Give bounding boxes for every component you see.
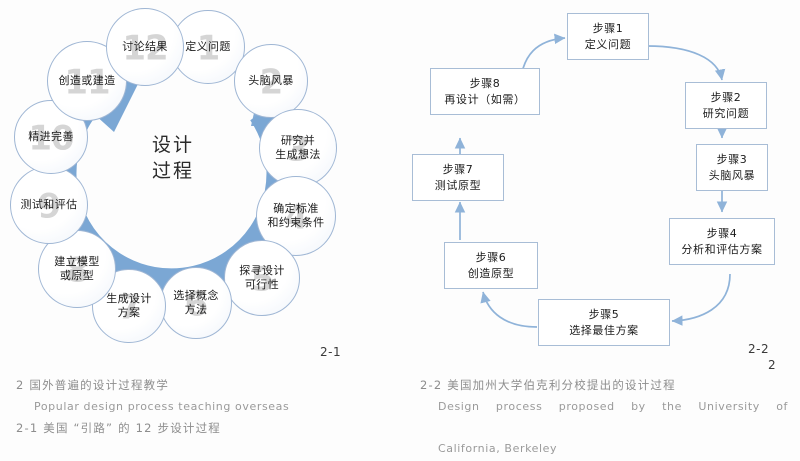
flow-step-6-desc: 创造原型 xyxy=(468,266,514,282)
flow-step-6-title: 步骤6 xyxy=(476,250,507,266)
flow-step-8-desc: 再设计（如需） xyxy=(444,92,525,108)
wheel-step-10-label: 精进完善 xyxy=(26,130,76,144)
caption-right-figure-en-line2: California, Berkeley xyxy=(420,439,790,460)
wheel-center-title-line2: 过程 xyxy=(113,159,233,185)
wheel-step-1-label: 定义问题 xyxy=(183,40,233,54)
wheel-step-5-label: 探寻设计 可行性 xyxy=(237,264,287,292)
wheel-step-8-label: 建立模型 或原型 xyxy=(52,255,102,283)
figure-captions: 2 国外普遍的设计过程教学 Popular design process tea… xyxy=(0,375,800,461)
flow-step-8-title: 步骤8 xyxy=(470,76,501,92)
caption-left-figure-cn: 2-1 美国 “引路” 的 12 步设计过程 xyxy=(16,418,396,440)
wheel-step-12[interactable]: 12 讨论结果 xyxy=(106,8,184,86)
wheel-step-6-label-line2: 方法 xyxy=(185,303,208,316)
caption-left-section-cn: 2 国外普遍的设计过程教学 xyxy=(16,375,396,397)
caption-right-figure-en-line1: Design process proposed by the Universit… xyxy=(420,397,790,439)
caption-left: 2 国外普遍的设计过程教学 Popular design process tea… xyxy=(16,375,396,440)
wheel-step-4-label-line1: 确定标准 xyxy=(273,202,319,215)
flow-step-2-title: 步骤2 xyxy=(711,90,742,106)
flow-step-3-desc: 头脑风暴 xyxy=(709,168,755,184)
wheel-step-9[interactable]: 9 测试和评估 xyxy=(10,166,88,244)
flow-step-1-title: 步骤1 xyxy=(593,21,624,37)
page-number: 2 xyxy=(768,358,776,372)
figure-page: 设计 过程 1 定义问题 2 头脑风暴 3 研究并 生成想法 4 xyxy=(0,0,800,461)
caption-right-figure-cn: 2-2 美国加州大学伯克利分校提出的设计过程 xyxy=(420,375,790,397)
wheel-step-11-label: 创造或建造 xyxy=(57,74,118,88)
flow-step-4-desc: 分析和评估方案 xyxy=(681,242,762,258)
flow-step-5-desc: 选择最佳方案 xyxy=(569,323,639,339)
wheel-step-6[interactable]: 6 选择概念 方法 xyxy=(160,267,232,339)
design-process-wheel: 设计 过程 1 定义问题 2 头脑风暴 3 研究并 生成想法 4 xyxy=(8,8,338,338)
flow-step-8[interactable]: 步骤8 再设计（如需） xyxy=(430,68,540,115)
wheel-center-title: 设计 过程 xyxy=(113,133,233,184)
flow-step-4[interactable]: 步骤4 分析和评估方案 xyxy=(669,218,775,265)
wheel-step-3-label-line2: 生成想法 xyxy=(275,148,321,161)
wheel-step-7-label-line2: 方案 xyxy=(118,306,141,319)
wheel-step-6-label: 选择概念 方法 xyxy=(171,289,221,317)
wheel-step-7-label: 生成设计 方案 xyxy=(104,292,154,320)
flow-step-2[interactable]: 步骤2 研究问题 xyxy=(685,82,767,129)
wheel-step-6-label-line1: 选择概念 xyxy=(173,289,219,302)
flow-step-7-title: 步骤7 xyxy=(443,162,474,178)
flow-step-7-desc: 测试原型 xyxy=(435,178,481,194)
flow-step-6[interactable]: 步骤6 创造原型 xyxy=(444,242,538,289)
flow-step-1-desc: 定义问题 xyxy=(585,37,631,53)
wheel-step-12-label: 讨论结果 xyxy=(120,40,170,54)
caption-left-section-en: Popular design process teaching overseas xyxy=(16,397,396,418)
figure-2-2-number: 2-2 xyxy=(748,342,769,356)
wheel-center-title-line1: 设计 xyxy=(113,133,233,159)
wheel-step-2[interactable]: 2 头脑风暴 xyxy=(234,44,308,118)
wheel-step-8-label-line2: 或原型 xyxy=(60,269,94,282)
flow-step-3-title: 步骤3 xyxy=(717,152,748,168)
wheel-step-5-label-line2: 可行性 xyxy=(245,278,279,291)
caption-right: 2-2 美国加州大学伯克利分校提出的设计过程 Design process pr… xyxy=(420,375,790,460)
flow-step-5[interactable]: 步骤5 选择最佳方案 xyxy=(538,299,670,346)
figure-2-2-design-process-flowchart: 步骤1 定义问题 步骤2 研究问题 步骤3 头脑风暴 步骤4 分析和评估方案 步… xyxy=(400,0,800,375)
flow-step-1[interactable]: 步骤1 定义问题 xyxy=(567,13,649,60)
flow-step-5-title: 步骤5 xyxy=(589,307,620,323)
wheel-step-3-label-line1: 研究并 xyxy=(281,134,315,147)
wheel-step-9-label: 测试和评估 xyxy=(19,198,80,212)
flow-step-4-title: 步骤4 xyxy=(707,226,738,242)
figure-2-1-circular-design-process: 设计 过程 1 定义问题 2 头脑风暴 3 研究并 生成想法 4 xyxy=(0,0,400,375)
wheel-step-4-label-line2: 和约束条件 xyxy=(268,216,325,229)
wheel-step-7-label-line1: 生成设计 xyxy=(106,292,152,305)
wheel-step-3-label: 研究并 生成想法 xyxy=(273,134,323,162)
wheel-step-2-label: 头脑风暴 xyxy=(246,74,296,88)
wheel-step-8-label-line1: 建立模型 xyxy=(54,255,100,268)
flow-step-3[interactable]: 步骤3 头脑风暴 xyxy=(696,144,768,191)
wheel-step-4-label: 确定标准 和约束条件 xyxy=(266,202,327,230)
flow-step-7[interactable]: 步骤7 测试原型 xyxy=(412,154,504,201)
wheel-step-5[interactable]: 5 探寻设计 可行性 xyxy=(224,240,300,316)
flow-step-2-desc: 研究问题 xyxy=(703,106,749,122)
figure-2-1-number: 2-1 xyxy=(320,345,341,359)
wheel-step-5-label-line1: 探寻设计 xyxy=(239,264,285,277)
